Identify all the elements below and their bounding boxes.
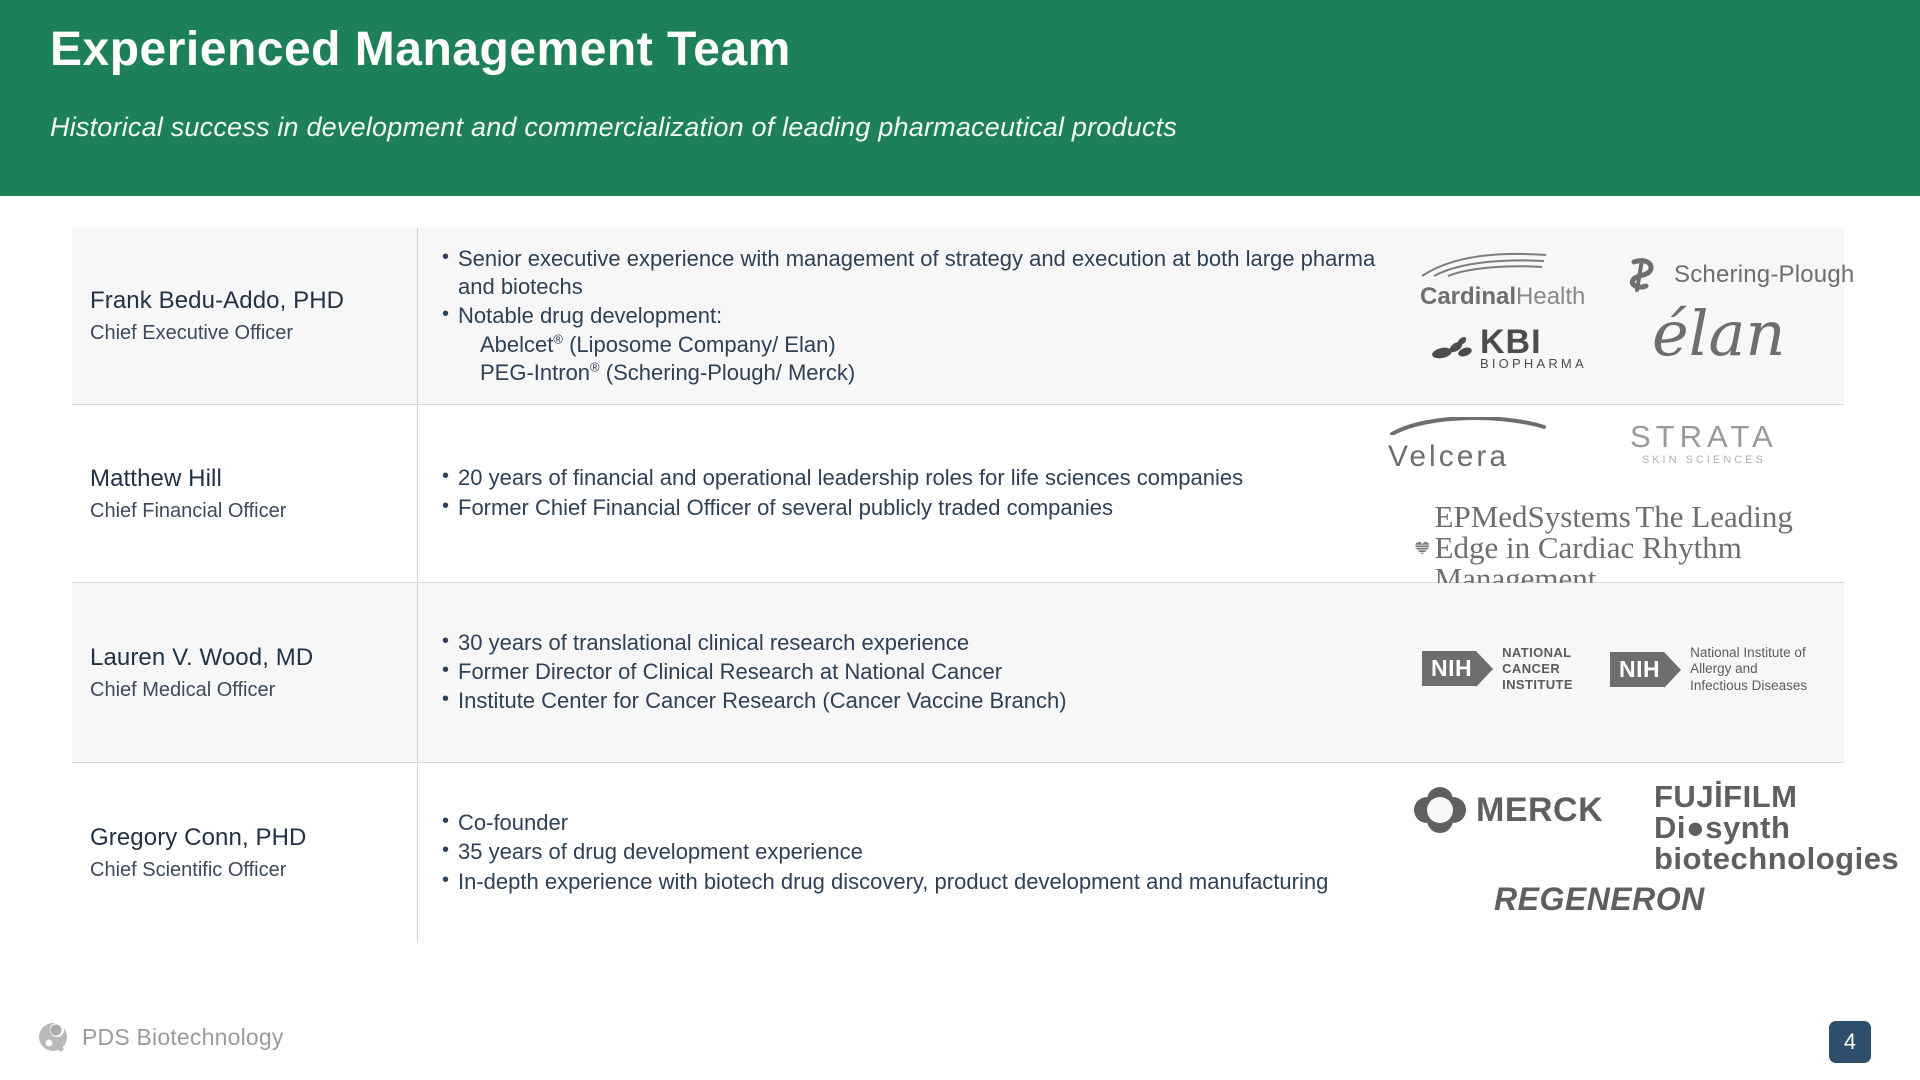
- table-row: Gregory Conn, PHD Chief Scientific Offic…: [72, 763, 1844, 943]
- person-title: Chief Financial Officer: [90, 498, 417, 524]
- kbi-leaves-icon: [1432, 336, 1476, 360]
- drug-owner: (Schering-Plough/ Merck): [600, 360, 856, 385]
- nih-niaid-logo: NIH National Institute of Allergy and In…: [1610, 645, 1807, 694]
- niaid-wordmark: National Institute of Allergy and Infect…: [1690, 645, 1807, 694]
- biotechnologies-label: biotechnologies: [1654, 843, 1899, 874]
- velcera-arc-icon: [1388, 417, 1548, 435]
- elan-wordmark: élan: [1652, 306, 1785, 362]
- person-name: Matthew Hill: [90, 464, 417, 494]
- list-item: Institute Center for Cancer Research (Ca…: [442, 687, 1402, 715]
- nih-badge-icon: NIH: [1422, 651, 1476, 686]
- sub-line: PEG-Intron® (Schering-Plough/ Merck): [442, 359, 1402, 387]
- list-item: Notable drug development:: [442, 302, 1402, 330]
- kbi-biopharma-logo: KBI BIOPHARMA: [1432, 326, 1587, 371]
- schering-plough-wordmark: Schering-Plough: [1674, 261, 1854, 289]
- cardinal-swoosh-icon: [1420, 252, 1550, 278]
- logos-cell: CardinalHealth Schering-Plough: [1414, 228, 1844, 404]
- table-row: Matthew Hill Chief Financial Officer 20 …: [72, 405, 1844, 583]
- epmed-wordmark-group: EPMedSystems The Leading Edge in Cardiac…: [1435, 501, 1844, 594]
- schering-plough-mark-icon: [1622, 258, 1666, 292]
- bullets-cell: 20 years of financial and operational le…: [418, 405, 1414, 582]
- registered-mark: ®: [553, 332, 563, 347]
- bullet-list: Co-founder 35 years of drug development …: [442, 809, 1402, 896]
- fujifilm-diosynth-logo: FUJİFILM Di●synth biotechnologies: [1654, 781, 1899, 874]
- fujifilm-wordmark: FUJİFILM: [1654, 781, 1899, 812]
- page-title: Experienced Management Team: [50, 22, 791, 77]
- drug-name: Abelcet: [480, 332, 553, 357]
- drug-owner: (Liposome Company/ Elan): [563, 332, 836, 357]
- logos-cell: MERCK FUJİFILM Di●synth biotechnologies …: [1414, 763, 1844, 943]
- table-row: Frank Bedu-Addo, PHD Chief Executive Off…: [72, 228, 1844, 405]
- list-item: Former Chief Financial Officer of severa…: [442, 494, 1402, 522]
- list-item: 30 years of translational clinical resea…: [442, 629, 1402, 657]
- bullets-cell: 30 years of translational clinical resea…: [418, 583, 1414, 762]
- strata-wordmark: STRATA SKIN SCIENCES: [1630, 421, 1778, 466]
- person-cell: Gregory Conn, PHD Chief Scientific Offic…: [72, 763, 418, 943]
- registered-mark: ®: [590, 360, 600, 375]
- person-name: Gregory Conn, PHD: [90, 823, 417, 853]
- pds-logo-icon: [36, 1020, 70, 1054]
- table-row: Lauren V. Wood, MD Chief Medical Officer…: [72, 583, 1844, 763]
- epmed-heart-icon: [1414, 533, 1431, 563]
- merck-mark-icon: [1414, 787, 1466, 833]
- slide-header: Experienced Management Team Historical s…: [0, 0, 1920, 196]
- elan-logo: élan: [1652, 306, 1785, 362]
- velcera-logo: Velcera: [1388, 417, 1548, 474]
- cardinal-health-wordmark: CardinalHealth: [1420, 283, 1585, 311]
- merck-wordmark: MERCK: [1476, 791, 1603, 830]
- nih-national-cancer-institute-logo: NIH NATIONAL CANCER INSTITUTE: [1422, 645, 1573, 693]
- nci-wordmark: NATIONAL CANCER INSTITUTE: [1502, 645, 1573, 693]
- bullets-cell: Senior executive experience with managem…: [418, 228, 1414, 404]
- drug-name: PEG-Intron: [480, 360, 590, 385]
- logos-cell: NIH NATIONAL CANCER INSTITUTE NIH Nation…: [1414, 583, 1844, 762]
- person-cell: Lauren V. Wood, MD Chief Medical Officer: [72, 583, 418, 762]
- sub-line: Abelcet® (Liposome Company/ Elan): [442, 331, 1402, 359]
- schering-plough-logo: Schering-Plough: [1622, 258, 1854, 292]
- velcera-wordmark: Velcera: [1388, 440, 1548, 474]
- list-item: Co-founder: [442, 809, 1402, 837]
- list-item: In-depth experience with biotech drug di…: [442, 868, 1402, 896]
- person-cell: Frank Bedu-Addo, PHD Chief Executive Off…: [72, 228, 418, 404]
- list-item: Senior executive experience with managem…: [442, 245, 1402, 301]
- person-name: Frank Bedu-Addo, PHD: [90, 286, 417, 316]
- page-number-badge: 4: [1829, 1021, 1871, 1063]
- management-team-table: Frank Bedu-Addo, PHD Chief Executive Off…: [72, 228, 1844, 943]
- bullets-cell: Co-founder 35 years of drug development …: [418, 763, 1414, 943]
- merck-logo: MERCK: [1414, 787, 1603, 833]
- epmed-wordmark: EPMedSystems: [1435, 499, 1631, 534]
- bullet-list: 20 years of financial and operational le…: [442, 464, 1402, 522]
- person-title: Chief Scientific Officer: [90, 857, 417, 883]
- page-subtitle: Historical success in development and co…: [50, 112, 1177, 143]
- person-cell: Matthew Hill Chief Financial Officer: [72, 405, 418, 582]
- diosynth-wordmark: Di●synth: [1654, 812, 1899, 843]
- person-title: Chief Medical Officer: [90, 677, 417, 703]
- list-item: 20 years of financial and operational le…: [442, 464, 1402, 492]
- nih-badge-icon: NIH: [1610, 652, 1664, 687]
- kbi-wordmark: KBI BIOPHARMA: [1480, 326, 1587, 371]
- list-item: 35 years of drug development experience: [442, 838, 1402, 866]
- regeneron-logo: REGENERON: [1494, 881, 1705, 918]
- regeneron-wordmark: REGENERON: [1494, 881, 1705, 918]
- epmedsystems-logo: EPMedSystems The Leading Edge in Cardiac…: [1414, 501, 1844, 594]
- fujifilm-wordmark-group: FUJİFILM Di●synth biotechnologies: [1654, 781, 1899, 874]
- footer-brand: PDS Biotechnology: [36, 1020, 284, 1054]
- strata-skin-sciences-logo: STRATA SKIN SCIENCES: [1630, 421, 1778, 466]
- person-name: Lauren V. Wood, MD: [90, 643, 417, 673]
- cardinal-health-logo: CardinalHealth: [1420, 252, 1585, 311]
- person-title: Chief Executive Officer: [90, 320, 417, 346]
- footer-company-name: PDS Biotechnology: [82, 1024, 284, 1051]
- bullet-list: Senior executive experience with managem…: [442, 245, 1402, 331]
- bullet-list: 30 years of translational clinical resea…: [442, 629, 1402, 716]
- logos-cell: Velcera STRATA SKIN SCIENCES EPMedSystem…: [1414, 405, 1844, 582]
- list-item: Former Director of Clinical Research at …: [442, 658, 1402, 686]
